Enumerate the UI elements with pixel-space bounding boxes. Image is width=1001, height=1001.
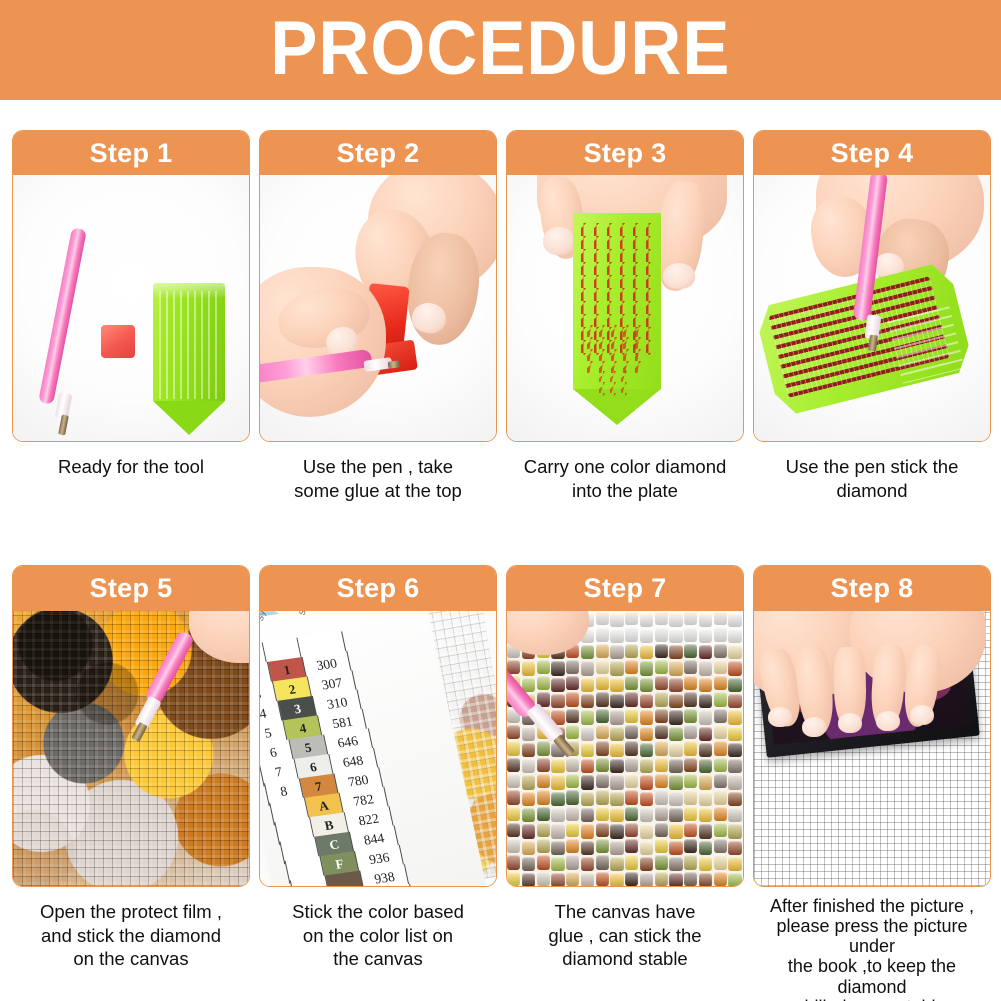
diamond-bead xyxy=(610,808,623,822)
diamond-bead xyxy=(625,725,638,739)
step-header-6: Step 6 xyxy=(260,566,496,611)
diamond-bead xyxy=(596,725,609,739)
diamond-bead xyxy=(655,725,668,739)
step-card-7[interactable]: Step 7 xyxy=(506,565,744,887)
diamond-bead xyxy=(714,676,727,690)
diamond-bead xyxy=(522,727,535,741)
diamond-bead xyxy=(551,873,564,886)
diamond-bead xyxy=(655,627,668,641)
step-cell-6: Step 6 xyxy=(259,565,497,971)
diamond-bead xyxy=(684,676,697,690)
diamond-bead xyxy=(566,823,579,837)
diamond-bead xyxy=(625,709,638,723)
diamond-bead xyxy=(684,741,697,755)
diamond-bead xyxy=(714,741,727,755)
diamond-bead xyxy=(625,872,638,886)
diamond-bead xyxy=(551,824,564,838)
diamond-bead xyxy=(714,725,727,739)
diamond-bead xyxy=(655,758,668,772)
diamond-bead xyxy=(625,839,638,853)
step-photo-4 xyxy=(754,175,990,441)
diamond-bead xyxy=(537,741,550,755)
diamond-bead xyxy=(625,790,638,804)
diamond-bead xyxy=(728,710,741,724)
diamond-bead xyxy=(581,759,594,773)
diamond-bead xyxy=(728,759,741,773)
diamond-bead xyxy=(655,676,668,690)
diamond-bead xyxy=(596,839,609,853)
step-cell-5: Step 5 Open the protect film , xyxy=(12,565,250,971)
diamond-bead xyxy=(699,824,712,838)
diamond-bead xyxy=(625,823,638,837)
diamond-bead xyxy=(714,611,727,625)
diamond-bead xyxy=(728,775,741,789)
diamond-bead xyxy=(551,694,564,708)
diamond-bead xyxy=(507,855,520,869)
diamond-bead xyxy=(537,758,550,772)
diamond-bead xyxy=(581,775,594,789)
diamond-bead xyxy=(566,807,579,821)
diamond-bead xyxy=(522,841,535,855)
procedure-infographic: PROCEDURE Step 1 xyxy=(0,0,1001,1001)
diamond-bead xyxy=(566,725,579,739)
diamond-bead xyxy=(522,873,535,886)
diamond-bead xyxy=(507,758,520,772)
diamond-bead xyxy=(728,857,741,871)
step-card-3[interactable]: Step 3 xyxy=(506,130,744,442)
diamond-bead xyxy=(640,743,653,757)
diamond-bead xyxy=(507,725,520,739)
diamond-bead xyxy=(655,807,668,821)
diamond-bead xyxy=(537,839,550,853)
diamond-bead xyxy=(669,824,682,838)
diamond-bead xyxy=(699,808,712,822)
diamond-bead xyxy=(655,839,668,853)
diamond-bead xyxy=(625,627,638,641)
step-photo-8 xyxy=(754,611,990,886)
page-header-banner: PROCEDURE xyxy=(0,0,1001,100)
diamond-bead xyxy=(581,841,594,855)
diamond-bead xyxy=(581,873,594,886)
diamond-bead xyxy=(728,727,741,741)
diamond-bead xyxy=(581,678,594,692)
diamond-bead xyxy=(655,692,668,706)
diamond-bead xyxy=(714,660,727,674)
diamond-bead xyxy=(684,872,697,886)
diamond-bead xyxy=(714,774,727,788)
diamond-bead xyxy=(596,741,609,755)
diamond-bead xyxy=(714,709,727,723)
diamond-bead xyxy=(669,661,682,675)
diamond-bead xyxy=(522,857,535,871)
diamond-bead xyxy=(566,774,579,788)
diamond-bead xyxy=(625,611,638,625)
diamond-bead xyxy=(581,710,594,724)
diamond-bead xyxy=(610,727,623,741)
diamond-bead xyxy=(684,823,697,837)
diamond-bead xyxy=(699,645,712,659)
step-card-4[interactable]: Step 4 xyxy=(753,130,991,442)
diamond-bead xyxy=(596,676,609,690)
diamond-bead xyxy=(728,613,741,627)
diamond-bead xyxy=(655,774,668,788)
diamond-bead xyxy=(669,775,682,789)
diamond-bead xyxy=(507,807,520,821)
diamond-bead xyxy=(507,872,520,886)
step-caption-7: The canvas have glue , can stick the dia… xyxy=(506,900,744,971)
step-header-2: Step 2 xyxy=(260,131,496,175)
step-photo-7 xyxy=(507,611,743,886)
diamond-bead xyxy=(669,645,682,659)
diamond-bead xyxy=(610,824,623,838)
diamond-bead xyxy=(640,694,653,708)
step-cell-8: Step 8 xyxy=(753,565,991,1001)
diamond-bead xyxy=(684,692,697,706)
diamond-bead xyxy=(566,758,579,772)
diamond-bead xyxy=(596,660,609,674)
diamond-bead xyxy=(640,775,653,789)
step-header-4: Step 4 xyxy=(754,131,990,175)
step-cell-4: Step 4 xyxy=(753,130,991,502)
step-card-8[interactable]: Step 8 xyxy=(753,565,991,887)
diamond-bead xyxy=(551,841,564,855)
diamond-bead xyxy=(566,660,579,674)
diamond-bead xyxy=(640,759,653,773)
diamond-bead xyxy=(581,808,594,822)
diamond-bead xyxy=(684,790,697,804)
diamond-bead xyxy=(640,841,653,855)
diamond-bead xyxy=(581,694,594,708)
diamond-bead xyxy=(714,758,727,772)
diamond-bead xyxy=(728,792,741,806)
diamond-bead xyxy=(566,855,579,869)
diamond-bead xyxy=(610,629,623,643)
diamond-bead xyxy=(581,661,594,675)
diamond-bead xyxy=(669,629,682,643)
diamond-bead xyxy=(669,694,682,708)
diamond-bead xyxy=(610,792,623,806)
diamond-bead xyxy=(714,839,727,853)
diamond-bead xyxy=(522,743,535,757)
diamond-bead xyxy=(684,709,697,723)
diamond-bead xyxy=(669,759,682,773)
diamond-bead xyxy=(551,808,564,822)
diamond-bead xyxy=(581,727,594,741)
diamond-bead xyxy=(640,661,653,675)
diamond-bead xyxy=(625,741,638,755)
diamond-bead xyxy=(714,823,727,837)
diamond-bead xyxy=(596,692,609,706)
step-header-5: Step 5 xyxy=(13,566,249,611)
diamond-bead xyxy=(728,661,741,675)
diamond-bead xyxy=(728,841,741,855)
diamond-bead xyxy=(684,855,697,869)
diamond-bead xyxy=(684,839,697,853)
diamond-bead xyxy=(596,790,609,804)
diamond-bead xyxy=(699,661,712,675)
step-cell-7: Step 7 The canvas have glue , can stick … xyxy=(506,565,744,971)
diamond-bead xyxy=(684,807,697,821)
diamond-bead xyxy=(714,872,727,886)
diamond-bead xyxy=(655,790,668,804)
diamond-bead xyxy=(699,743,712,757)
step-card-1[interactable]: Step 1 xyxy=(12,130,250,442)
diamond-bead xyxy=(669,792,682,806)
diamond-bead xyxy=(610,613,623,627)
diamond-bead xyxy=(551,775,564,789)
diamond-bead xyxy=(714,790,727,804)
diamond-bead xyxy=(699,857,712,871)
diamond-bead xyxy=(640,873,653,886)
steps-grid: Step 1 xyxy=(0,100,1001,1001)
diamond-bead xyxy=(699,873,712,886)
diamond-bead xyxy=(684,644,697,658)
diamond-bead xyxy=(728,824,741,838)
diamond-bead xyxy=(507,823,520,837)
diamond-bead xyxy=(699,775,712,789)
diamond-bead xyxy=(669,678,682,692)
diamond-bead xyxy=(610,678,623,692)
diamond-bead xyxy=(699,694,712,708)
diamond-bead xyxy=(728,743,741,757)
step-caption-8: After finished the picture , please pres… xyxy=(753,896,991,1001)
diamond-bead xyxy=(655,855,668,869)
step-caption-1: Ready for the tool xyxy=(12,455,250,479)
diamond-bead xyxy=(640,824,653,838)
diamond-bead xyxy=(566,839,579,853)
diamond-bead xyxy=(699,710,712,724)
step-header-1: Step 1 xyxy=(13,131,249,175)
diamond-bead xyxy=(596,872,609,886)
step-caption-4: Use the pen stick the diamond xyxy=(753,455,991,502)
step-header-3: Step 3 xyxy=(507,131,743,175)
diamond-bead xyxy=(537,774,550,788)
diamond-bead xyxy=(728,645,741,659)
diamond-bead xyxy=(684,627,697,641)
diamond-bead xyxy=(522,661,535,675)
diamond-bead xyxy=(537,676,550,690)
diamond-bead xyxy=(669,727,682,741)
diamond-bead xyxy=(596,758,609,772)
diamond-bead xyxy=(655,611,668,625)
diamond-bead xyxy=(699,727,712,741)
step-card-2[interactable]: Step 2 xyxy=(259,130,497,442)
diamond-bead xyxy=(551,678,564,692)
diamond-bead xyxy=(669,808,682,822)
diamond-bead xyxy=(610,857,623,871)
diamond-bead xyxy=(507,741,520,755)
diamond-bead xyxy=(655,660,668,674)
diamond-bead xyxy=(596,855,609,869)
diamond-bead xyxy=(537,823,550,837)
step-photo-6: Symbol Symbol DMC 1213003230743310545816… xyxy=(260,611,496,886)
diamond-bead xyxy=(581,857,594,871)
diamond-bead xyxy=(655,644,668,658)
diamond-bead xyxy=(596,644,609,658)
glue-block xyxy=(101,325,135,358)
diamond-bead xyxy=(610,710,623,724)
diamond-bead xyxy=(581,645,594,659)
diamond-bead xyxy=(537,855,550,869)
diamond-bead xyxy=(625,855,638,869)
diamond-bead xyxy=(566,872,579,886)
diamond-bead xyxy=(640,857,653,871)
diamond-bead xyxy=(566,692,579,706)
diamond-bead xyxy=(625,758,638,772)
diamond-bead xyxy=(625,692,638,706)
diamond-bead xyxy=(699,841,712,855)
step-cell-3: Step 3 xyxy=(506,130,744,502)
diamond-bead xyxy=(522,775,535,789)
diamond-bead xyxy=(596,774,609,788)
step-card-5[interactable]: Step 5 xyxy=(12,565,250,887)
diamond-bead xyxy=(507,839,520,853)
step-photo-5 xyxy=(13,611,249,886)
diamond-bead xyxy=(610,759,623,773)
diamond-bead xyxy=(596,807,609,821)
diamond-bead xyxy=(669,857,682,871)
diamond-bead xyxy=(684,774,697,788)
diamond-bead xyxy=(522,792,535,806)
diamond-bead xyxy=(610,743,623,757)
diamond-bead xyxy=(551,857,564,871)
diamond-bead xyxy=(566,709,579,723)
diamond-bead xyxy=(699,792,712,806)
diamond-bead xyxy=(596,823,609,837)
diamond-bead xyxy=(655,709,668,723)
diamond-bead xyxy=(596,709,609,723)
diamond-bead xyxy=(610,775,623,789)
diamond-bead xyxy=(581,824,594,838)
steps-row-bottom: Step 5 Open the protect film , xyxy=(0,565,1001,995)
diamond-bead xyxy=(714,627,727,641)
diamond-bead xyxy=(581,792,594,806)
diamond-bead xyxy=(551,759,564,773)
step-header-7: Step 7 xyxy=(507,566,743,611)
diamond-bead xyxy=(655,741,668,755)
diamond-bead xyxy=(507,790,520,804)
diamond-bead xyxy=(537,872,550,886)
diamond-bead xyxy=(655,872,668,886)
diamond-bead xyxy=(522,759,535,773)
diamond-bead xyxy=(537,660,550,674)
step-cell-2: Step 2 xyxy=(259,130,497,502)
diamond-bead xyxy=(714,807,727,821)
step-caption-6: Stick the color based on the color list … xyxy=(259,900,497,971)
diamond-bead xyxy=(640,808,653,822)
diamond-bead xyxy=(640,629,653,643)
diamond-bead xyxy=(551,792,564,806)
diamond-bead xyxy=(684,758,697,772)
diamond-bead xyxy=(728,808,741,822)
diamond-bead xyxy=(522,808,535,822)
diamond-bead xyxy=(669,873,682,886)
diamond-bead xyxy=(507,774,520,788)
diamond-bead xyxy=(684,725,697,739)
diamond-bead xyxy=(699,629,712,643)
diamond-bead xyxy=(625,807,638,821)
diamond-bead xyxy=(610,841,623,855)
diamond-bead xyxy=(728,629,741,643)
diamond-bead xyxy=(640,710,653,724)
step-caption-3: Carry one color diamond into the plate xyxy=(506,455,744,502)
diamond-bead xyxy=(596,611,609,625)
step-photo-1 xyxy=(13,175,249,441)
diamond-bead xyxy=(581,743,594,757)
diamond-bead xyxy=(669,743,682,757)
diamond-bead xyxy=(537,807,550,821)
diamond-bead xyxy=(684,660,697,674)
diamond-bead xyxy=(610,645,623,659)
diamond-bead xyxy=(728,694,741,708)
diamond-bead xyxy=(625,644,638,658)
step-card-6[interactable]: Step 6 xyxy=(259,565,497,887)
diamond-bead xyxy=(610,694,623,708)
diamond-bead xyxy=(714,692,727,706)
diamond-bead xyxy=(537,790,550,804)
diamond-bead xyxy=(640,613,653,627)
diamond-bead xyxy=(669,841,682,855)
diamond-bead xyxy=(699,678,712,692)
diamond-bead xyxy=(566,790,579,804)
step-header-8: Step 8 xyxy=(754,566,990,611)
step-caption-5: Open the protect film , and stick the di… xyxy=(12,900,250,971)
step-caption-2: Use the pen , take some glue at the top xyxy=(259,455,497,502)
diamond-bead xyxy=(640,645,653,659)
diamond-bead xyxy=(655,823,668,837)
diamond-bead xyxy=(684,611,697,625)
diamond-bead xyxy=(699,613,712,627)
diamond-bead xyxy=(640,727,653,741)
diamond-bead xyxy=(728,678,741,692)
diamond-bead xyxy=(566,676,579,690)
page-title: PROCEDURE xyxy=(270,11,730,87)
diamond-bead xyxy=(610,661,623,675)
diamond-bead xyxy=(714,855,727,869)
diamond-bead xyxy=(610,873,623,886)
diamond-bead xyxy=(625,660,638,674)
diamond-bead xyxy=(596,627,609,641)
diamond-bead xyxy=(699,759,712,773)
diamond-bead xyxy=(625,676,638,690)
diamond-bead xyxy=(669,710,682,724)
diamond-bead xyxy=(625,774,638,788)
step-photo-3 xyxy=(507,175,743,441)
diamond-bead xyxy=(728,873,741,886)
diamond-bead xyxy=(640,792,653,806)
step-cell-1: Step 1 xyxy=(12,130,250,479)
diamond-bead xyxy=(669,613,682,627)
diamond-bead xyxy=(714,644,727,658)
step-photo-2 xyxy=(260,175,496,441)
diamond-bead xyxy=(551,661,564,675)
diamond-bead xyxy=(640,678,653,692)
steps-row-top: Step 1 xyxy=(0,130,1001,550)
diamond-bead xyxy=(522,824,535,838)
